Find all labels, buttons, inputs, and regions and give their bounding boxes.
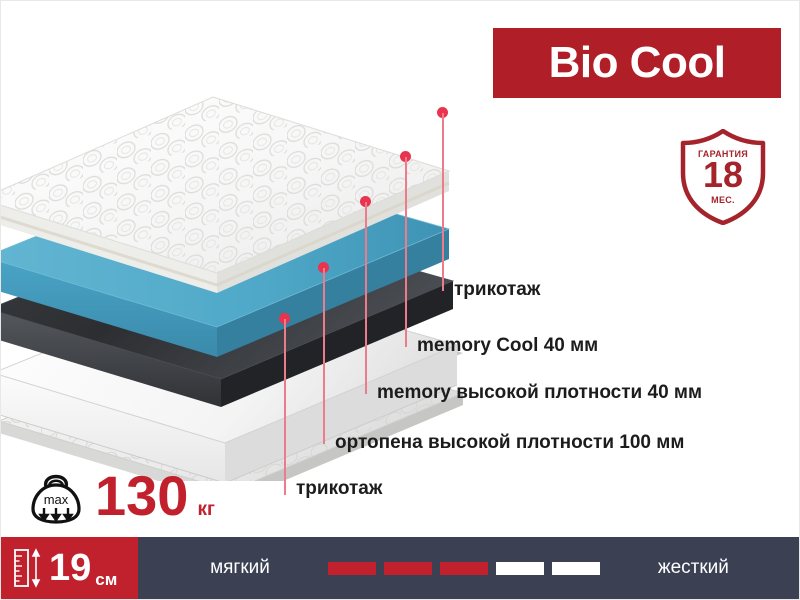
layer-label-orthofoam: ортопена высокой плотности 100 мм — [335, 432, 684, 454]
height-spec-block: 19 см — [1, 537, 138, 599]
firmness-scale — [328, 562, 600, 575]
firmness-segment-2 — [384, 562, 432, 575]
guarantee-badge: ГАРАНТИЯ 18 МЕС. — [677, 129, 769, 225]
firmness-scale-block: мягкий жесткий — [138, 537, 800, 599]
callout-line-memory-dense — [365, 202, 367, 394]
layer-label-top-knit: трикотаж — [454, 279, 540, 301]
layer-label-memory-dense: memory высокой плотности 40 мм — [377, 382, 702, 404]
guarantee-value: 18 — [677, 157, 769, 193]
svg-text:max: max — [44, 492, 69, 507]
callout-line-orthofoam — [323, 268, 325, 444]
max-weight-value: 130 — [95, 468, 188, 524]
firmness-segment-3 — [440, 562, 488, 575]
callout-line-bottom-knit — [284, 319, 286, 495]
max-weight-unit: кг — [197, 499, 214, 521]
callout-line-memory-cool — [405, 157, 407, 347]
page-title: Bio Cool — [549, 41, 726, 85]
firmness-segment-1 — [328, 562, 376, 575]
product-infographic: Bio Cool ГАРАНТИЯ 18 МЕС. трикотаж memor… — [0, 0, 800, 600]
mattress-layers-illustration — [0, 21, 491, 481]
bottom-spec-bar: 19 см мягкий жесткий — [1, 537, 800, 599]
ruler-icon — [13, 548, 43, 588]
product-title-banner: Bio Cool — [493, 28, 781, 98]
weight-max-icon: max — [29, 467, 83, 525]
height-value: 19 — [49, 549, 91, 587]
firmness-hard-label: жесткий — [658, 557, 729, 579]
layer-label-memory-cool: memory Cool 40 мм — [417, 335, 598, 357]
firmness-segment-4 — [496, 562, 544, 575]
callout-line-top-knit — [442, 113, 444, 291]
guarantee-unit-label: МЕС. — [677, 195, 769, 205]
height-unit: см — [95, 570, 117, 590]
max-weight-group: max 130 кг — [29, 463, 215, 529]
firmness-soft-label: мягкий — [210, 557, 270, 579]
layer-label-bottom-knit: трикотаж — [296, 478, 382, 500]
firmness-segment-5 — [552, 562, 600, 575]
